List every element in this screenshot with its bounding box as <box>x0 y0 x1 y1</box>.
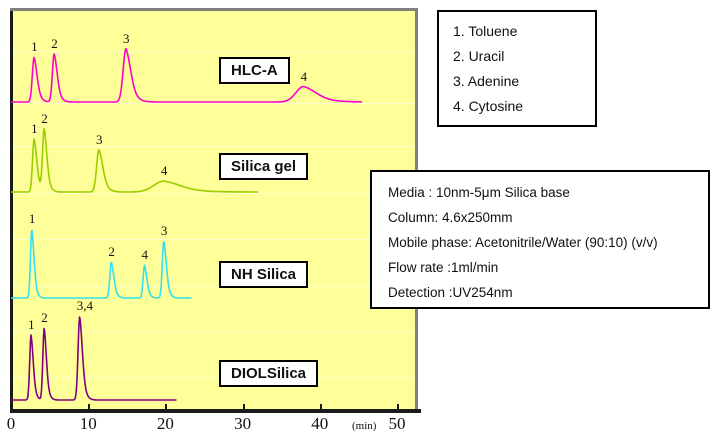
x-axis-tick <box>88 404 90 411</box>
peak-number: 1 <box>31 40 38 53</box>
peak-number: 2 <box>108 245 115 258</box>
x-axis-unit-label: (min) <box>352 421 376 432</box>
compound-legend-box: 1. Toluene 2. Uracil 3. Adenine 4. Cytos… <box>437 10 597 127</box>
x-axis-tick-label: 10 <box>80 415 97 432</box>
x-axis-tick <box>320 404 322 411</box>
gridline <box>13 331 415 332</box>
peak-number: 1 <box>29 212 36 225</box>
x-axis-tick-label: 30 <box>234 415 251 432</box>
gridline <box>13 193 415 194</box>
trace-label-silica-gel: Silica gel <box>219 153 308 180</box>
gridline <box>13 51 415 52</box>
legend-item: 4. Cytosine <box>453 94 595 119</box>
peak-number: 2 <box>41 311 48 324</box>
gridline <box>13 239 415 240</box>
condition-flow-rate: Flow rate :1ml/min <box>388 255 708 280</box>
condition-media: Media : 10nm-5μm Silica base <box>388 180 708 205</box>
peak-number: 2 <box>51 37 58 50</box>
condition-column: Column: 4.6x250mm <box>388 205 708 230</box>
x-axis-tick <box>165 404 167 411</box>
gridline <box>13 377 415 378</box>
peak-number: 4 <box>161 164 168 177</box>
peak-number: 4 <box>142 248 149 261</box>
peak-number: 3,4 <box>77 299 93 312</box>
peak-number: 3 <box>161 224 168 237</box>
peak-number: 2 <box>41 112 48 125</box>
x-axis-tick-label: 50 <box>389 415 406 432</box>
x-axis-tick-label: 0 <box>7 415 16 432</box>
x-axis-line <box>10 409 421 413</box>
chromatogram-plot-area <box>10 8 418 409</box>
analysis-conditions-box: Media : 10nm-5μm Silica base Column: 4.6… <box>370 170 710 309</box>
y-axis-line <box>10 11 13 412</box>
x-axis-tick <box>397 404 399 411</box>
condition-detection: Detection :UV254nm <box>388 280 708 305</box>
x-axis-tick-label: 20 <box>157 415 174 432</box>
gridline <box>13 103 415 104</box>
trace-label-diol-silica: DIOLSilica <box>219 360 318 387</box>
peak-number: 3 <box>123 32 130 45</box>
legend-item: 1. Toluene <box>453 19 595 44</box>
trace-label-nh-silica: NH Silica <box>219 261 308 288</box>
trace-label-hlc-a: HLC-A <box>219 57 290 84</box>
peak-number: 4 <box>301 70 308 83</box>
peak-number: 3 <box>96 133 103 146</box>
x-axis-tick-label: 40 <box>311 415 328 432</box>
legend-item: 2. Uracil <box>453 44 595 69</box>
gridline <box>13 286 415 287</box>
gridline <box>13 146 415 147</box>
peak-number: 1 <box>31 122 38 135</box>
x-axis-tick <box>243 404 245 411</box>
peak-number: 1 <box>28 318 35 331</box>
legend-item: 3. Adenine <box>453 69 595 94</box>
x-axis-tick <box>11 404 13 411</box>
condition-mobile-phase: Mobile phase: Acetonitrile/Water (90:10)… <box>388 230 708 255</box>
